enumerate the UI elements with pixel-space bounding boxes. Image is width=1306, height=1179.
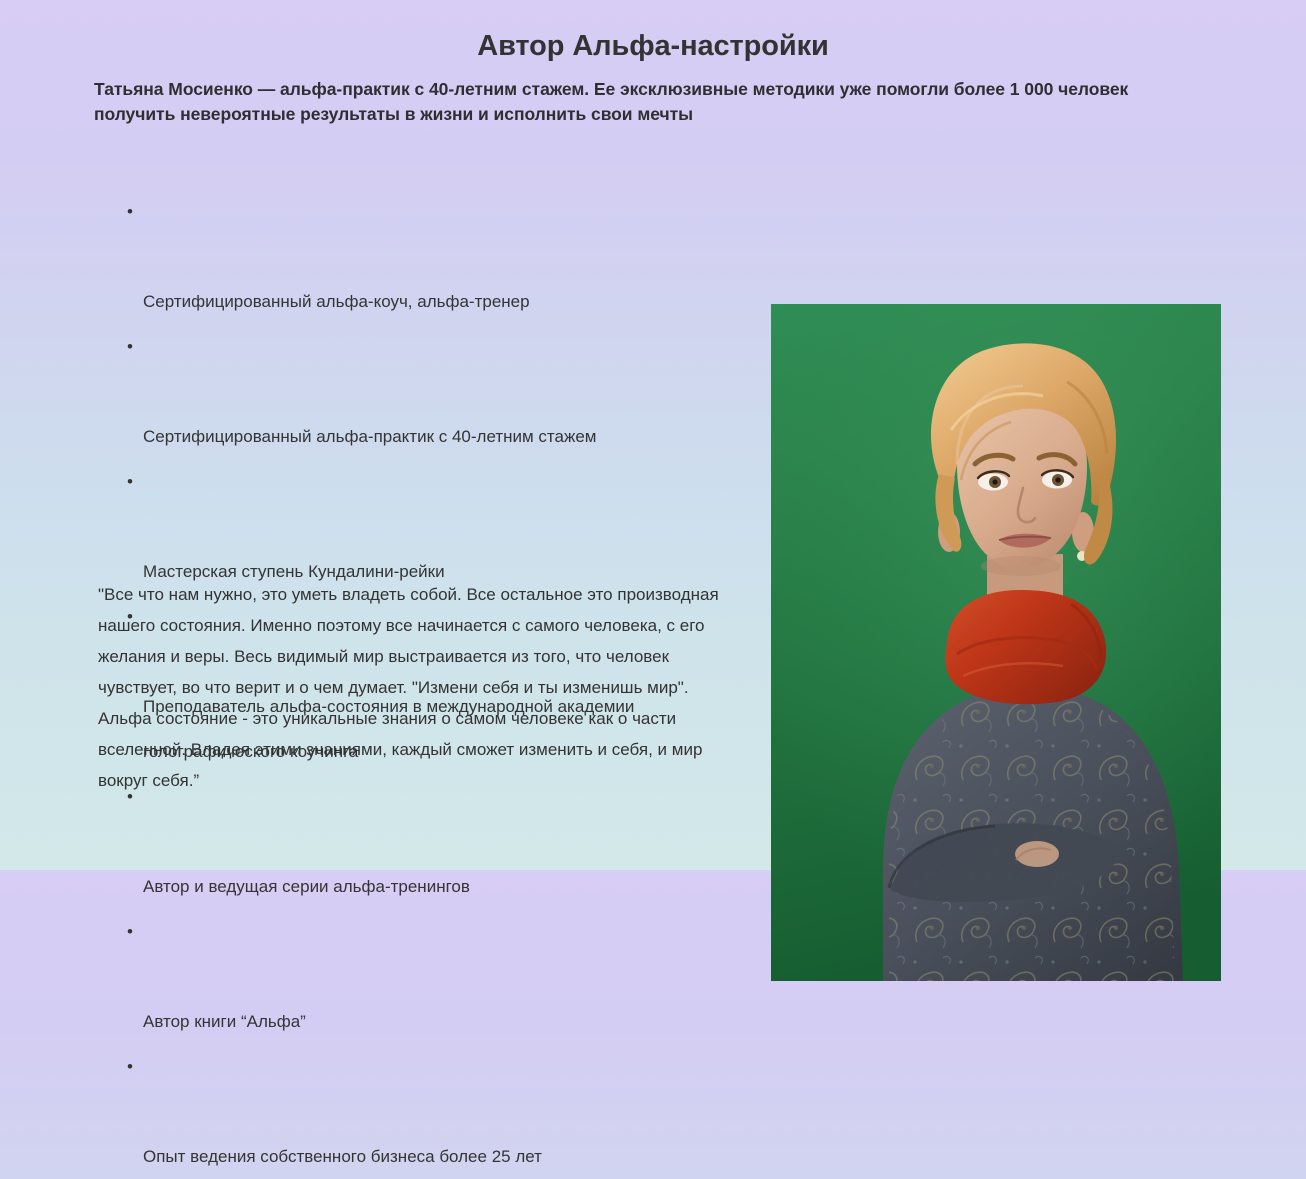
list-item-label: Опыт ведения собственного бизнеса более …	[143, 1147, 542, 1166]
content-columns: • Сертифицированный альфа-коуч, альфа-тр…	[0, 152, 1306, 852]
list-item-label: Автор и ведущая серии альфа-тренингов	[143, 877, 470, 896]
list-item: • Сертифицированный альфа-практик с 40-л…	[127, 324, 747, 459]
list-item: • Автор книги “Альфа”	[127, 909, 747, 1044]
bullet-icon: •	[127, 1044, 133, 1089]
list-item: • Опыт ведения собственного бизнеса боле…	[127, 1044, 747, 1179]
left-column: • Сертифицированный альфа-коуч, альфа-тр…	[0, 152, 760, 852]
list-item: • Мастерская ступень Кундалини-рейки	[127, 459, 747, 594]
page-subtitle: Татьяна Мосиенко — альфа-практик с 40-ле…	[0, 77, 1306, 127]
author-quote: "Все что нам нужно, это уметь владеть со…	[98, 579, 738, 796]
list-item-label: Автор книги “Альфа”	[143, 1012, 306, 1031]
bullet-icon: •	[127, 324, 133, 369]
page-title: Автор Альфа-настройки	[0, 0, 1306, 63]
author-photo	[771, 304, 1221, 981]
bullet-icon: •	[127, 189, 133, 234]
list-item-label: Сертифицированный альфа-практик с 40-лет…	[143, 427, 597, 446]
author-section: Автор Альфа-настройки Татьяна Мосиенко —…	[0, 0, 1306, 870]
list-item: • Сертифицированный альфа-коуч, альфа-тр…	[127, 189, 747, 324]
author-portrait-illustration	[771, 304, 1221, 981]
bullet-icon: •	[127, 909, 133, 954]
list-item-label: Сертифицированный альфа-коуч, альфа-трен…	[143, 292, 530, 311]
bullet-icon: •	[127, 459, 133, 504]
